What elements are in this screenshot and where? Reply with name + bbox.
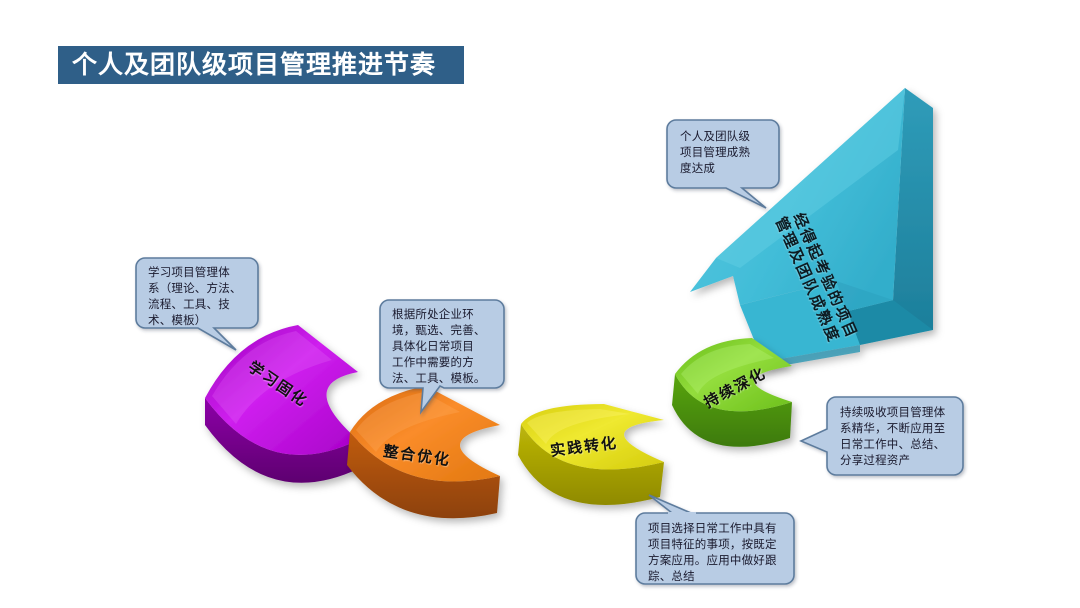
callout-learn: [136, 258, 258, 350]
step-block-1[interactable]: [205, 325, 360, 483]
callout-practice: [636, 495, 794, 584]
diagram-stage: [0, 0, 1080, 608]
callout-practice-tail-patch: [668, 512, 696, 516]
callout-deepen: [801, 397, 963, 475]
callout-goal-shape: [667, 120, 779, 208]
callout-learn-shape: [136, 258, 258, 350]
callout-practice-shape: [636, 495, 794, 584]
step-block-4[interactable]: [672, 338, 792, 447]
slide-canvas: 个人及团队级项目管理推进节奏: [0, 0, 1080, 608]
callout-deepen-shape: [801, 397, 963, 475]
step-block-3[interactable]: [518, 404, 664, 505]
callout-goal: [667, 120, 779, 208]
